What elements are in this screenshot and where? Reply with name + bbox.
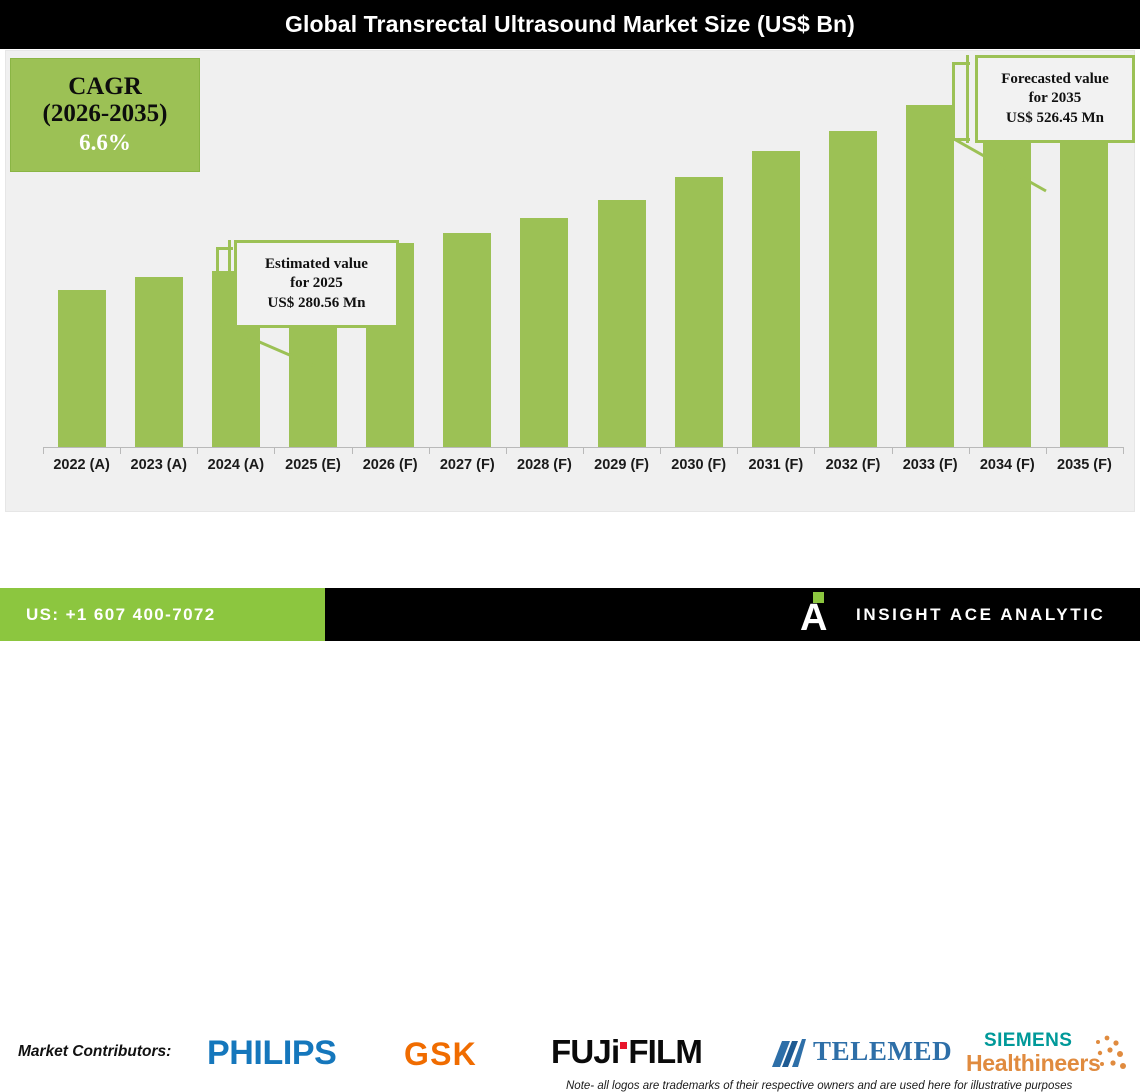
x-axis-label: 2033 (F) [892, 457, 969, 473]
bar-slot [583, 50, 660, 447]
bar-2028[interactable] [520, 218, 568, 447]
title-bar: Global Transrectal Ultrasound Market Siz… [0, 0, 1140, 49]
bar-2023[interactable] [135, 277, 183, 447]
bar-slot [814, 50, 891, 447]
cagr-period: (2026-2035) [43, 100, 168, 128]
bar-slot [429, 50, 506, 447]
fujifilm-text-b: FILM [628, 1033, 702, 1071]
x-axis-tick [429, 447, 430, 454]
philips-logo: PHILIPS [207, 1034, 336, 1073]
x-axis-label: 2030 (F) [660, 457, 737, 473]
bar-slot [892, 50, 969, 447]
gsk-logo: GSK [404, 1036, 477, 1073]
bar-slot [506, 50, 583, 447]
x-axis-labels: 2022 (A)2023 (A)2024 (A)2025 (E)2026 (F)… [43, 457, 1123, 491]
callout-2025-connector-outer-left [216, 247, 219, 326]
x-axis-label: 2023 (A) [120, 457, 197, 473]
bar-2031[interactable] [752, 151, 800, 447]
x-axis-tick [43, 447, 44, 454]
callout-estimated-line2: for 2025 [290, 274, 343, 293]
bottom-bar: US: +1 607 400-7072 A INSIGHT ACE ANALYT… [0, 588, 1140, 641]
telemed-mark-icon [770, 1035, 806, 1067]
x-axis-label: 2034 (F) [969, 457, 1046, 473]
bar-slot [660, 50, 737, 447]
bar-2030[interactable] [675, 177, 723, 447]
x-axis-label: 2035 (F) [1046, 457, 1123, 473]
x-axis-tick [1123, 447, 1124, 454]
fujifilm-logo: FUJ i FILM [551, 1033, 702, 1071]
bar-slot [737, 50, 814, 447]
x-axis-label: 2031 (F) [737, 457, 814, 473]
x-axis-tick [969, 447, 970, 454]
brand-name: INSIGHT ACE ANALYTIC [856, 605, 1105, 625]
fujifilm-letter-i: i [611, 1033, 619, 1071]
callout-estimated-2025: Estimated value for 2025 US$ 280.56 Mn [234, 240, 399, 328]
callout-estimated-line3: US$ 280.56 Mn [268, 294, 366, 313]
bar-2022[interactable] [58, 290, 106, 447]
x-axis-label: 2028 (F) [506, 457, 583, 473]
siemens-dots-icon [1090, 1034, 1130, 1078]
fujifilm-accent-dot-icon [620, 1042, 627, 1049]
callout-2025-leader-line [210, 318, 325, 373]
x-axis-tick [120, 447, 121, 454]
x-axis-label: 2025 (E) [274, 457, 351, 473]
cagr-title: CAGR [68, 73, 142, 100]
insight-ace-mark-icon: A [800, 592, 840, 637]
x-axis-tick [737, 447, 738, 454]
siemens-healthineers-logo: SIEMENS Healthineers [966, 1030, 1126, 1077]
x-axis-label: 2027 (F) [429, 457, 506, 473]
x-axis-label: 2032 (F) [814, 457, 891, 473]
brand-accent-square-icon [813, 592, 824, 603]
phone-block[interactable]: US: +1 607 400-7072 [0, 588, 325, 641]
x-axis-tick [506, 447, 507, 454]
cagr-badge: CAGR (2026-2035) 6.6% [10, 58, 200, 172]
brand-letter-a: A [800, 600, 840, 637]
callout-2035-leader-line [946, 133, 1056, 198]
x-axis-label: 2024 (A) [197, 457, 274, 473]
bar-2029[interactable] [598, 200, 646, 447]
x-axis-tick [892, 447, 893, 454]
footer-logos: Market Contributors: PHILIPS GSK FUJ i F… [0, 512, 1140, 588]
callout-2035-connector-inner-bar [966, 55, 969, 143]
callout-forecasted-line2: for 2035 [1029, 89, 1082, 108]
x-axis-label: 2022 (A) [43, 457, 120, 473]
page-title: Global Transrectal Ultrasound Market Siz… [0, 0, 1140, 49]
callout-forecasted-line1: Forecasted value [1001, 70, 1109, 89]
callout-2025-connector-inner-bar [228, 240, 231, 328]
bars-layer [43, 50, 1123, 447]
bar-2032[interactable] [829, 131, 877, 447]
bar-2027[interactable] [443, 233, 491, 447]
callout-forecasted-2035: Forecasted value for 2035 US$ 526.45 Mn [975, 55, 1135, 143]
x-axis-label: 2029 (F) [583, 457, 660, 473]
x-axis-tick [660, 447, 661, 454]
x-axis-tick [1046, 447, 1047, 454]
phone-number: US: +1 607 400-7072 [0, 605, 216, 625]
x-axis-tick [814, 447, 815, 454]
logo-trademark-note: Note- all logos are trademarks of their … [566, 1080, 1072, 1092]
x-axis-tick [197, 447, 198, 454]
callout-forecasted-line3: US$ 526.45 Mn [1006, 109, 1104, 128]
x-axis-label: 2026 (F) [352, 457, 429, 473]
telemed-text: TELEMED [813, 1036, 952, 1067]
fujifilm-text-a: FUJ [551, 1033, 611, 1071]
x-axis-tick [352, 447, 353, 454]
cagr-value: 6.6% [79, 129, 131, 157]
x-axis-tick [583, 447, 584, 454]
telemed-logo: TELEMED [770, 1035, 952, 1067]
x-axis-tick [274, 447, 275, 454]
brand-wrap: A INSIGHT ACE ANALYTIC [800, 588, 1105, 641]
market-contributors-label: Market Contributors: [18, 1043, 171, 1061]
callout-estimated-line1: Estimated value [265, 255, 368, 274]
callout-2035-connector-outer-left [952, 62, 955, 141]
